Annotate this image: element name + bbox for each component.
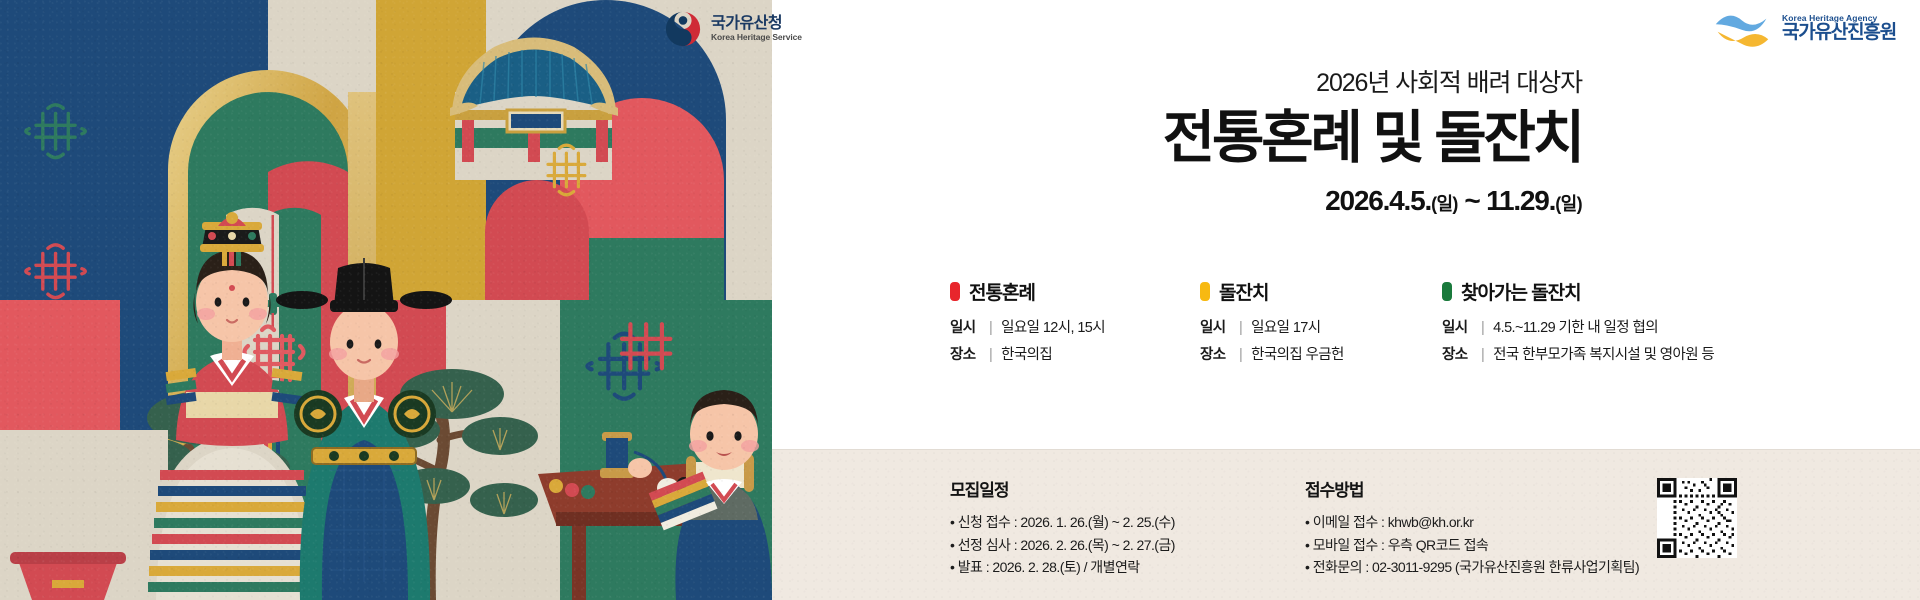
application-method-block: 접수방법 • 이메일 접수 : khwb@kh.or.kr • 모바일 접수 :… (1305, 476, 1737, 579)
qr-code[interactable] (1657, 478, 1737, 558)
row-value: 일요일 12시, 15시 (1001, 316, 1105, 337)
row-value: 전국 한부모가족 복지시설 및 영아원 등 (1493, 343, 1714, 364)
swoosh-emblem-icon (1712, 9, 1772, 47)
logo-korea-heritage-service: 국가유산청 Korea Heritage Service (664, 10, 802, 48)
marker-dot-icon (950, 282, 960, 301)
program-header: 돌잔치 (1200, 278, 1420, 305)
program-row-venue: 장소 | 한국의집 (950, 343, 1178, 364)
program-row-venue: 장소 | 한국의집 우금헌 (1200, 343, 1420, 364)
program-header: 전통혼례 (950, 278, 1178, 305)
date-start-dow: (일) (1431, 194, 1458, 214)
date-start: 2026.4.5. (1325, 185, 1431, 216)
row-separator: | (989, 320, 992, 336)
row-key: 일시 (1200, 316, 1230, 337)
program-column-outreach-dol-party: 찾아가는 돌잔치 일시 | 4.5.~11.29 기한 내 일정 협의 장소 |… (1442, 278, 1736, 370)
apply-item-email: • 이메일 접수 : khwb@kh.or.kr (1305, 511, 1639, 534)
row-key: 장소 (1200, 343, 1230, 364)
row-key: 장소 (950, 343, 980, 364)
row-separator: | (1481, 320, 1484, 336)
event-banner: 국가유산청 Korea Heritage Service Korea Herit… (0, 0, 1920, 600)
row-key: 일시 (950, 316, 980, 337)
logo-korea-heritage-agency: Korea Heritage Agency 국가유산진흥원 (1712, 9, 1896, 47)
footer-bar: 모집일정 • 신청 접수 : 2026. 1. 26.(월) ~ 2. 25.(… (772, 450, 1920, 600)
row-separator: | (1239, 320, 1242, 336)
apply-title: 접수방법 (1305, 476, 1639, 501)
date-end-dow: (일) (1555, 194, 1582, 214)
taegeuk-emblem-icon (664, 10, 702, 48)
apply-item-phone: • 전화문의 : 02-3011-9295 (국가유산진흥원 한류사업기획팀) (1305, 556, 1639, 579)
schedule-item: • 신청 접수 : 2026. 1. 26.(월) ~ 2. 25.(수) (950, 511, 1295, 534)
content-panel: 국가유산청 Korea Heritage Service Korea Herit… (772, 0, 1920, 600)
kha-name-ko: 국가유산진흥원 (1782, 23, 1896, 43)
program-row-datetime: 일시 | 일요일 12시, 15시 (950, 316, 1178, 337)
program-column-dol-party: 돌잔치 일시 | 일요일 17시 장소 | 한국의집 우금헌 (1200, 278, 1442, 370)
row-value: 4.5.~11.29 기한 내 일정 협의 (1493, 316, 1658, 337)
marker-dot-icon (1200, 282, 1210, 301)
recruitment-schedule-block: 모집일정 • 신청 접수 : 2026. 1. 26.(월) ~ 2. 25.(… (950, 476, 1295, 579)
program-title: 전통혼례 (969, 278, 1035, 305)
program-columns: 전통혼례 일시 | 일요일 12시, 15시 장소 | 한국의집 돌잔치 (950, 278, 1736, 370)
apply-item-mobile: • 모바일 접수 : 우측 QR코드 접속 (1305, 534, 1639, 557)
row-separator: | (1239, 347, 1242, 363)
event-date-range: 2026.4.5.(일) ~ 11.29.(일) (1163, 185, 1582, 217)
program-header: 찾아가는 돌잔치 (1442, 278, 1714, 305)
program-row-venue: 장소 | 전국 한부모가족 복지시설 및 영아원 등 (1442, 343, 1714, 364)
event-title: 전통혼례 및 돌잔치 (1163, 108, 1582, 170)
row-key: 일시 (1442, 316, 1472, 337)
program-title: 찾아가는 돌잔치 (1461, 278, 1581, 305)
khs-name-ko: 국가유산청 (711, 15, 802, 33)
illustration (0, 0, 772, 600)
row-separator: | (989, 347, 992, 363)
schedule-title: 모집일정 (950, 476, 1295, 501)
schedule-item: • 발표 : 2026. 2. 28.(토) / 개별연락 (950, 556, 1295, 579)
row-separator: | (1481, 347, 1484, 363)
row-value: 일요일 17시 (1251, 316, 1320, 337)
khs-name-en: Korea Heritage Service (711, 33, 802, 43)
row-value: 한국의집 (1001, 343, 1052, 364)
program-row-datetime: 일시 | 일요일 17시 (1200, 316, 1420, 337)
row-value: 한국의집 우금헌 (1251, 343, 1344, 364)
date-tilde: ~ (1458, 185, 1486, 216)
program-column-traditional-wedding: 전통혼례 일시 | 일요일 12시, 15시 장소 | 한국의집 (950, 278, 1200, 370)
event-subtitle: 2026년 사회적 배려 대상자 (1163, 70, 1582, 98)
date-end: 11.29. (1486, 185, 1555, 216)
program-row-datetime: 일시 | 4.5.~11.29 기한 내 일정 협의 (1442, 316, 1714, 337)
schedule-item: • 선정 심사 : 2026. 2. 26.(목) ~ 2. 27.(금) (950, 534, 1295, 557)
headline-block: 2026년 사회적 배려 대상자 전통혼례 및 돌잔치 2026.4.5.(일)… (1163, 70, 1582, 217)
program-title: 돌잔치 (1219, 278, 1268, 305)
marker-dot-icon (1442, 282, 1452, 301)
row-key: 장소 (1442, 343, 1472, 364)
